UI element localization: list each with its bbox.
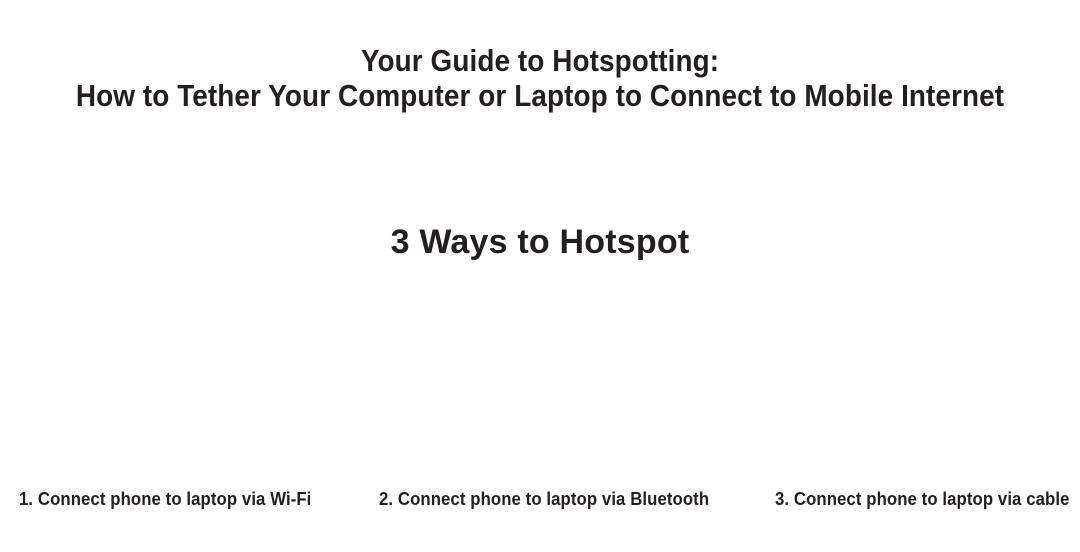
methods-caption-row: 1. Connect phone to laptop via Wi-Fi 2. … [0, 486, 1080, 516]
method-figure-2 [400, 270, 680, 460]
method-caption-cable: 3. Connect phone to laptop via cable [775, 486, 1069, 512]
section-heading: 3 Ways to Hotspot [0, 222, 1080, 262]
method-figure-1 [40, 270, 320, 460]
article-page: Your Guide to Hotspotting: How to Tether… [0, 0, 1080, 552]
method-figure-3 [760, 270, 1040, 460]
method-caption-bluetooth: 2. Connect phone to laptop via Bluetooth [379, 486, 709, 512]
page-title-line-1: Your Guide to Hotspotting: [54, 44, 1026, 78]
page-title-line-2: How to Tether Your Computer or Laptop to… [54, 78, 1026, 114]
method-illustration-cable [760, 270, 1040, 460]
method-illustration-bluetooth [400, 270, 680, 460]
method-caption-wifi: 1. Connect phone to laptop via Wi-Fi [19, 486, 311, 512]
method-illustration-wifi [40, 270, 320, 460]
methods-image-row [0, 286, 1080, 476]
page-title: Your Guide to Hotspotting: How to Tether… [0, 44, 1080, 114]
